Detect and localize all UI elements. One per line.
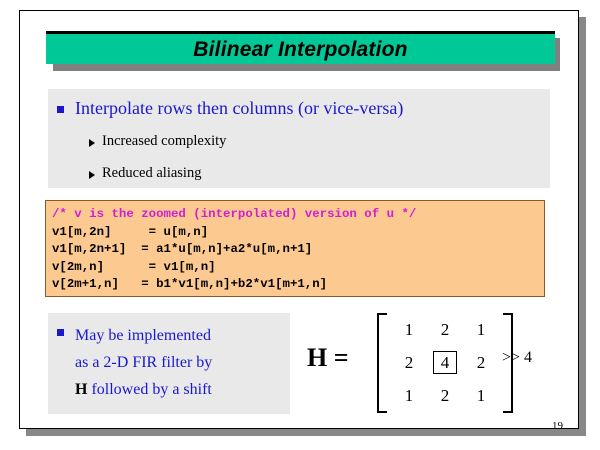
matrix-cell: 2 [441,387,450,404]
square-bullet-icon [57,106,64,113]
filter-matrix: 1 2 1 2 4 2 1 2 1 [377,313,513,413]
bottom-bullet-line-1: May be implemented [75,327,211,344]
code-comment-line: /* v is the zoomed (interpolated) versio… [52,206,544,224]
sub-bullet-label: Increased complexity [102,133,226,150]
sub-bullet-item: Increased complexity [89,133,529,150]
matrix-cell: 1 [405,387,414,404]
matrix-cell: 1 [477,321,486,338]
title-banner: Bilinear Interpolation [46,31,555,64]
sub-bullet-label: Reduced aliasing [102,165,201,182]
bottom-bullet-item: May be implemented as a 2-D FIR filter b… [57,322,287,403]
sub-bullet-item: Reduced aliasing [89,165,529,182]
shift-operator-label: >> 4 [502,350,532,366]
code-line: v1[m,2n] = u[m,n] [52,224,544,242]
matrix-cell: 1 [405,321,414,338]
triangle-bullet-icon [89,139,95,147]
top-bullet-label: Interpolate rows then columns (or vice-v… [75,98,403,119]
page-number: 19 [552,421,563,432]
matrix-grid: 1 2 1 2 4 2 1 2 1 [387,313,503,413]
bottom-bullet-label: May be implemented as a 2-D FIR filter b… [75,322,212,403]
square-bullet-icon [57,329,64,336]
matrix-cell: 2 [405,354,414,371]
matrix-cell: 1 [477,387,486,404]
code-block: /* v is the zoomed (interpolated) versio… [45,200,545,297]
filter-symbol-h: H [75,381,87,398]
code-line: v[2m,n] = v1[m,n] [52,259,544,277]
slide-root: Bilinear Interpolation Interpolate rows … [0,0,600,450]
page-title: Bilinear Interpolation [193,38,407,60]
code-line: v1[m,2n+1] = a1*u[m,n]+a2*u[m,n+1] [52,241,544,259]
equation-lhs: H = [307,345,349,371]
top-bullet-item: Interpolate rows then columns (or vice-v… [57,98,537,119]
matrix-bracket-left [377,313,387,413]
bottom-bullet-line-2: as a 2-D FIR filter by [75,354,212,371]
matrix-cell: 2 [477,354,486,371]
matrix-cell-highlighted: 4 [433,351,458,374]
bottom-bullet-line-3: followed by a shift [87,381,211,398]
matrix-cell: 2 [441,321,450,338]
code-line: v[2m+1,n] = b1*v1[m,n]+b2*v1[m+1,n] [52,276,544,294]
triangle-bullet-icon [89,171,95,179]
